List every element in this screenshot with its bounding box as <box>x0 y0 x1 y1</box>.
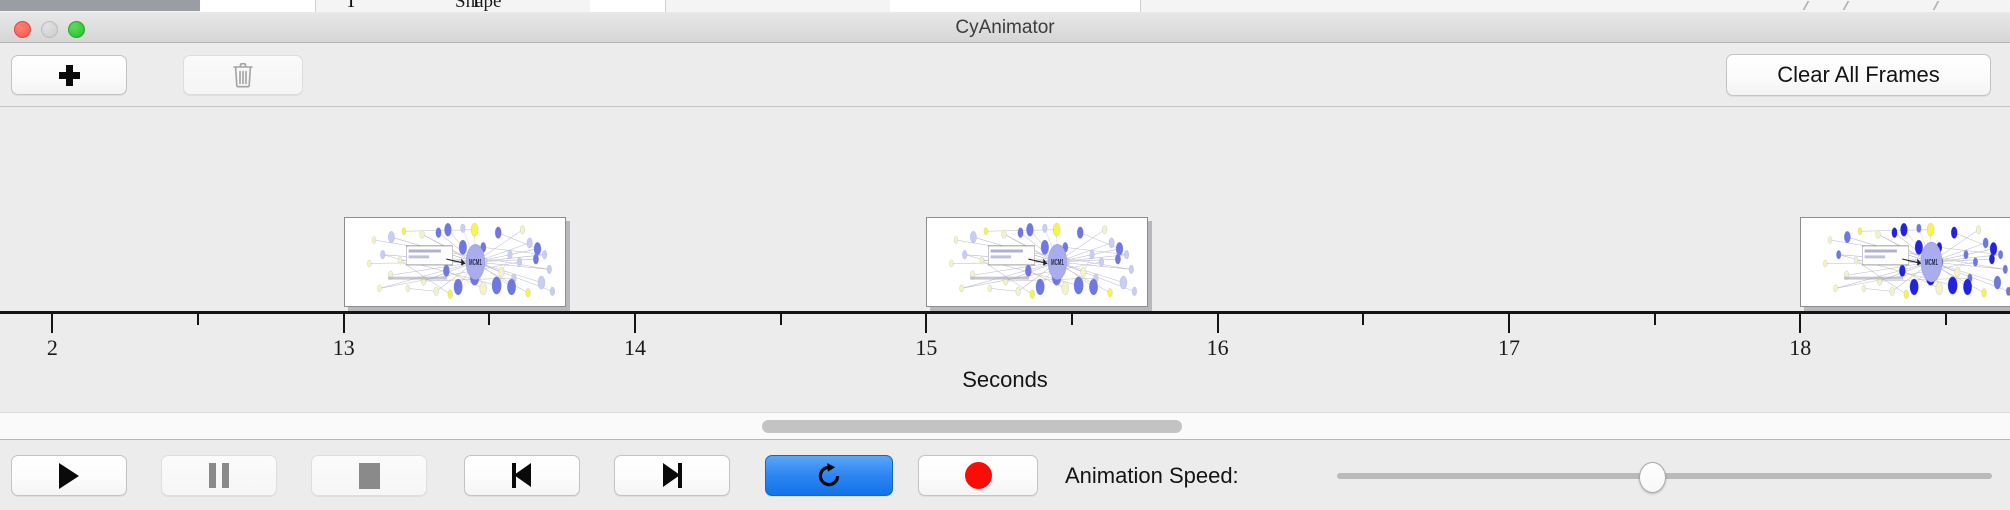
tick-label: 14 <box>624 335 646 361</box>
cyanimator-window: T T Shape CyAnimator Clear All Frames 21… <box>0 0 2010 510</box>
minor-tick <box>488 314 490 325</box>
background-chevron <box>1843 1 1863 10</box>
major-tick <box>1508 314 1510 333</box>
animation-speed-slider[interactable] <box>1337 455 1992 496</box>
play-icon <box>59 463 79 489</box>
trash-icon <box>232 62 254 88</box>
plus-icon <box>59 65 80 86</box>
tick-label: 2 <box>47 335 58 361</box>
background-shape-label: Shape <box>455 0 501 12</box>
skip-to-end-icon <box>660 463 684 488</box>
minor-tick <box>197 314 199 325</box>
timeline-frame[interactable]: MCM1 <box>926 217 1148 307</box>
minor-tick <box>1362 314 1364 325</box>
network-thumbnail-graphic: MCM1 <box>1801 218 2010 306</box>
clear-all-frames-label: Clear All Frames <box>1777 62 1940 88</box>
frame-thumbnail: MCM1 <box>1801 218 2010 306</box>
minor-tick <box>1945 314 1947 325</box>
background-toolbar-dark <box>0 0 200 11</box>
network-thumbnail-graphic: MCM1 <box>345 218 565 306</box>
pause-icon <box>209 463 229 488</box>
background-window-strip: T T Shape <box>0 0 2010 12</box>
background-segment <box>260 0 316 12</box>
pause-button[interactable] <box>161 455 277 496</box>
play-button[interactable] <box>11 455 127 496</box>
timeline-scrollbar-track[interactable] <box>0 412 2010 440</box>
delete-frame-button[interactable] <box>183 55 303 95</box>
timeline-panel[interactable]: 2131415161718 MCM1 MCM1 <box>0 107 2010 412</box>
minor-tick <box>780 314 782 325</box>
frame-thumbnail: MCM1 <box>927 218 1147 306</box>
major-tick <box>343 314 345 333</box>
major-tick <box>634 314 636 333</box>
background-chevron <box>1803 1 1823 10</box>
frame-thumbnail: MCM1 <box>345 218 565 306</box>
minor-tick <box>1071 314 1073 325</box>
playback-control-bar: Animation Speed: <box>0 441 2010 510</box>
timeline-frame[interactable]: MCM1 <box>1800 217 2010 307</box>
major-tick <box>51 314 53 333</box>
background-segment <box>890 0 1141 12</box>
network-thumbnail-graphic: MCM1 <box>927 218 1147 306</box>
major-tick <box>1799 314 1801 333</box>
stop-button[interactable] <box>311 455 427 496</box>
skip-to-end-button[interactable] <box>614 455 730 496</box>
animation-speed-label: Animation Speed: <box>1065 455 1239 496</box>
window-title: CyAnimator <box>0 12 2010 43</box>
background-segment <box>200 0 261 12</box>
record-button[interactable] <box>918 455 1038 496</box>
timeline-scrollbar-thumb[interactable] <box>762 420 1182 433</box>
slider-thumb[interactable] <box>1639 462 1666 493</box>
loop-button[interactable] <box>765 455 893 496</box>
tick-label: 17 <box>1498 335 1520 361</box>
major-tick <box>1217 314 1219 333</box>
minor-tick <box>1654 314 1656 325</box>
svg-text:MCM1: MCM1 <box>469 259 482 268</box>
tick-label: 13 <box>333 335 355 361</box>
add-frame-button[interactable] <box>11 55 127 95</box>
svg-text:MCM1: MCM1 <box>1051 259 1064 268</box>
tick-label: 15 <box>915 335 937 361</box>
skip-to-start-icon <box>510 463 534 488</box>
loop-icon <box>815 462 843 490</box>
background-chevron <box>1933 1 1953 10</box>
skip-to-start-button[interactable] <box>464 455 580 496</box>
axis-title: Seconds <box>0 367 2010 393</box>
timeline-axis <box>0 311 2010 314</box>
record-icon <box>965 462 992 489</box>
frame-toolbar: Clear All Frames <box>0 43 2010 107</box>
major-tick <box>925 314 927 333</box>
tick-label: 16 <box>1207 335 1229 361</box>
tick-label: 18 <box>1789 335 1811 361</box>
title-bar[interactable]: CyAnimator <box>0 12 2010 43</box>
clear-all-frames-button[interactable]: Clear All Frames <box>1726 54 1991 96</box>
svg-text:MCM1: MCM1 <box>1925 259 1938 268</box>
timeline-frame[interactable]: MCM1 <box>344 217 566 307</box>
background-segment <box>590 0 666 12</box>
stop-icon <box>359 463 380 489</box>
